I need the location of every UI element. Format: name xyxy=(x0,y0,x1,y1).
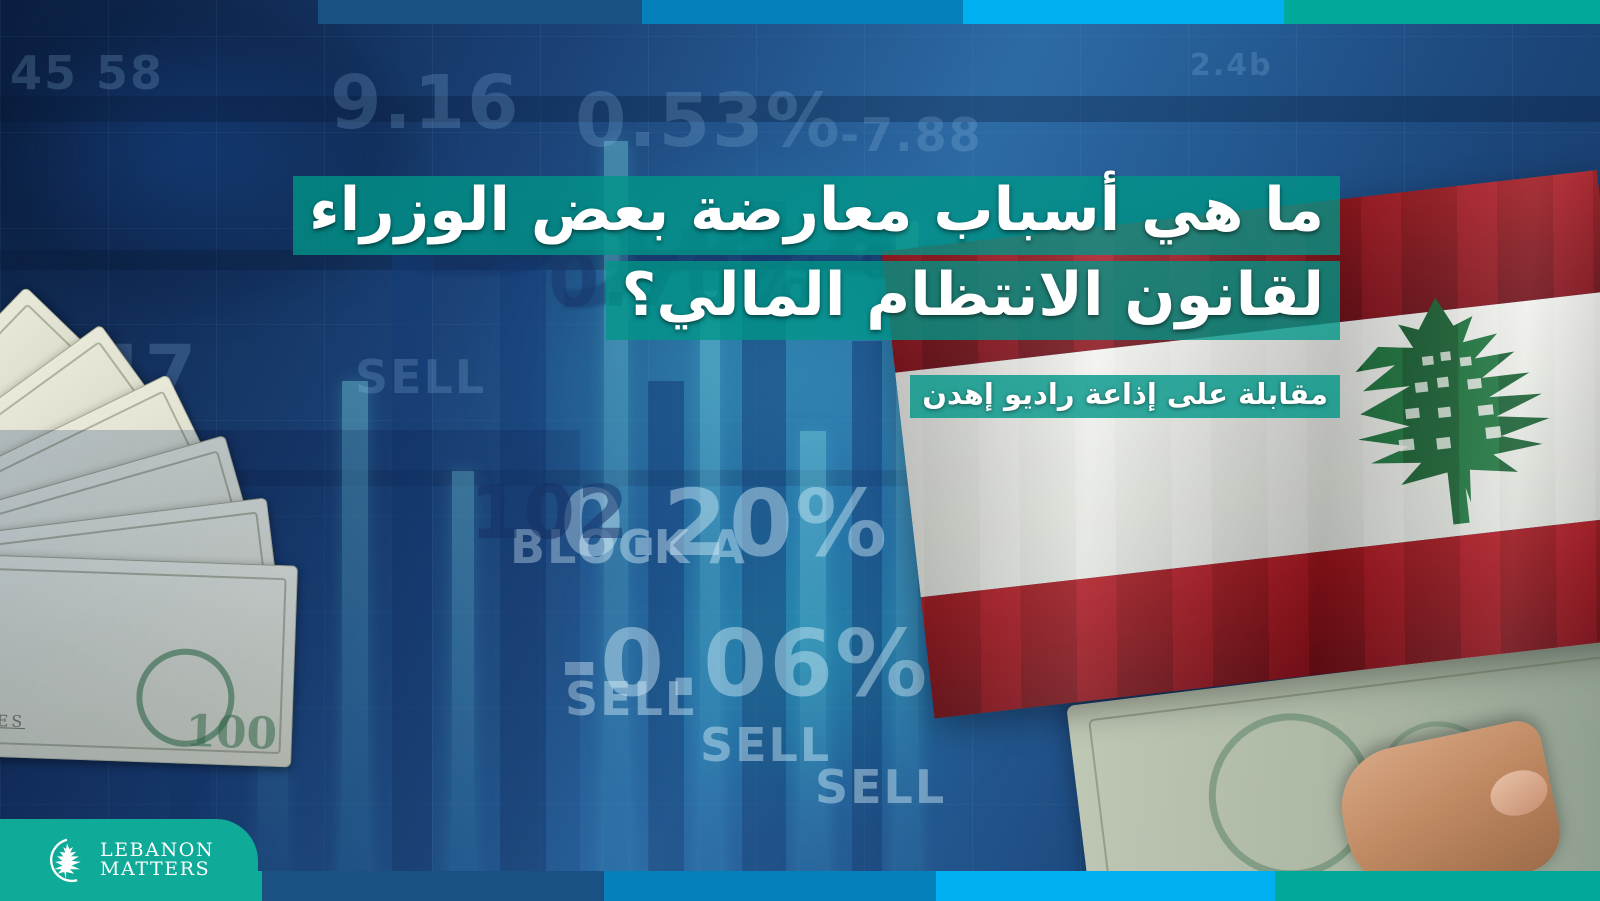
headline-line-2-text: لقانون الانتظام المالي؟ xyxy=(606,261,1340,340)
bar-segment-blue xyxy=(642,0,963,24)
logo-wordmark: LEBANON MATTERS xyxy=(100,841,214,879)
bar-segment-navy xyxy=(262,871,604,901)
bar-segment-cyan xyxy=(963,0,1284,24)
ticker-number-2: -7.88 xyxy=(840,108,983,162)
subtitle-block: مقابلة على إذاعة راديو إهدن xyxy=(0,375,1340,418)
ticker-number-15: 45 58 xyxy=(10,46,164,100)
logo-line-2: MATTERS xyxy=(100,860,214,879)
bar-segment-image-bleed xyxy=(0,0,318,24)
ticker-number-11: SELL xyxy=(565,672,696,726)
bar-segment-navy xyxy=(318,0,642,24)
background-image: مصرف 9.160.53%-7.882.4b0.70%0.15%0.20%-3… xyxy=(0,0,1600,901)
bar-segment-blue xyxy=(604,871,936,901)
headline-block: ما هي أسباب معارضة بعض الوزراء لقانون ال… xyxy=(0,176,1340,346)
bar-segment-cyan xyxy=(936,871,1275,901)
bar-segment-teal-right xyxy=(1275,871,1600,901)
ticker-number-1: 0.53% xyxy=(575,78,842,164)
headline-line-1-text: ما هي أسباب معارضة بعض الوزراء xyxy=(293,176,1340,255)
headline-line-2: لقانون الانتظام المالي؟ xyxy=(0,261,1340,340)
subtitle-text: مقابلة على إذاعة راديو إهدن xyxy=(910,375,1340,418)
top-color-bar xyxy=(0,0,1600,24)
ticker-number-13: SELL xyxy=(815,760,946,814)
poster-canvas: مصرف 9.160.53%-7.882.4b0.70%0.15%0.20%-3… xyxy=(0,0,1600,901)
ticker-number-0: 9.16 xyxy=(330,60,521,146)
ticker-number-12: SELL xyxy=(700,718,831,772)
ticker-number-3: 2.4b xyxy=(1190,48,1273,83)
headline-line-1: ما هي أسباب معارضة بعض الوزراء xyxy=(0,176,1340,255)
lebanon-matters-logo[interactable]: LEBANON MATTERS xyxy=(0,819,258,901)
bar-segment-teal xyxy=(1284,0,1600,24)
cedar-circle-logo-icon xyxy=(44,837,90,883)
